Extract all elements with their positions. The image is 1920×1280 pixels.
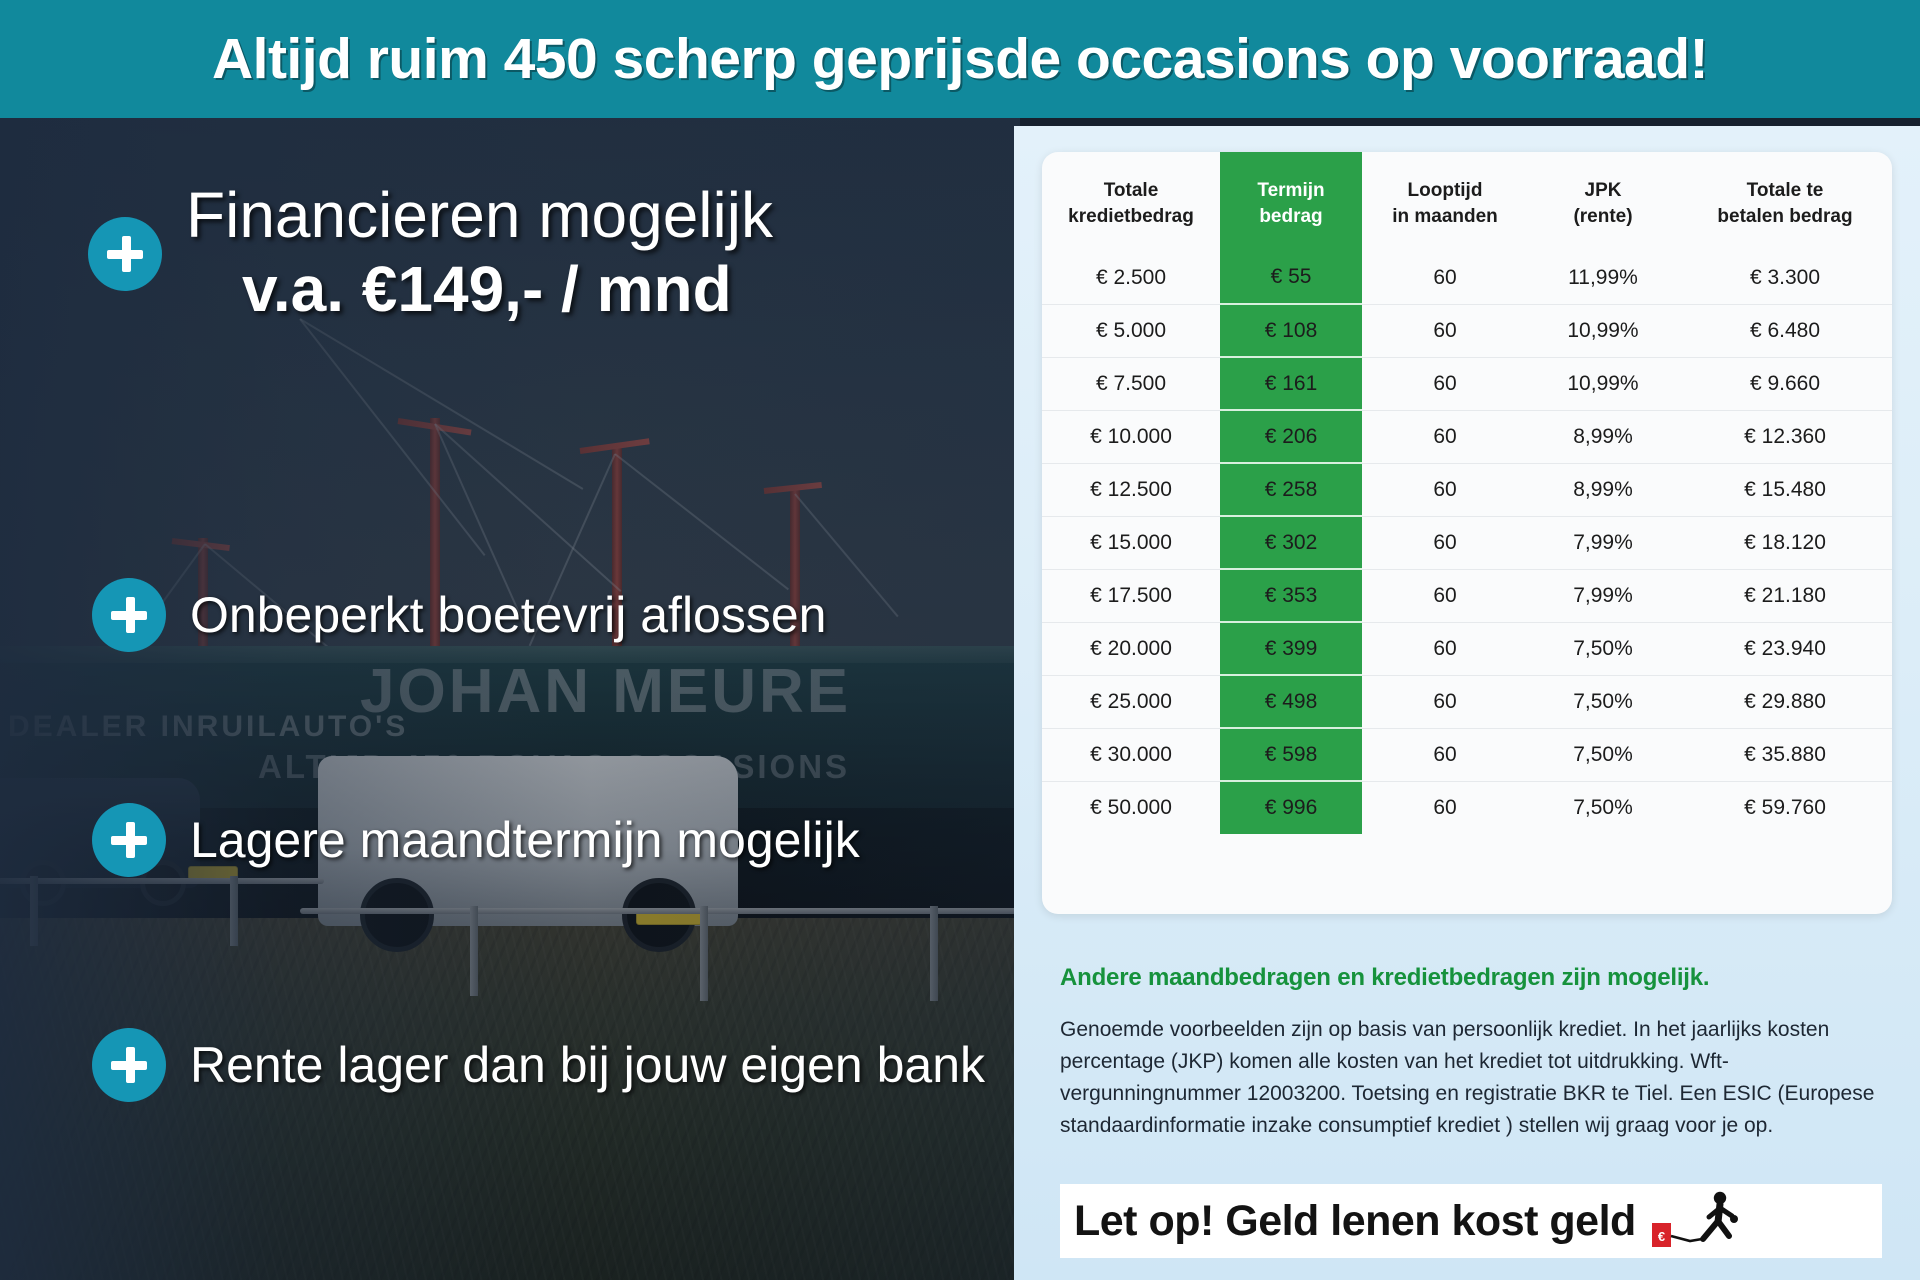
table-row: € 30.000 € 598 60 7,50% € 35.880 [1042,728,1892,781]
rate-table: Totale kredietbedrag Termijn bedrag Loop… [1042,152,1892,834]
headline-block: Financieren mogelijk v.a. €149,- / mnd [186,180,773,328]
th-line-1: Totale te [1747,180,1824,201]
table-row: € 20.000 € 399 60 7,50% € 23.940 [1042,622,1892,675]
cell-termijn: € 55 [1220,251,1362,304]
cell-totaal: € 59.760 [1678,781,1892,834]
cell-krediet: € 5.000 [1042,304,1220,357]
cell-jpk: 7,99% [1528,516,1678,569]
cell-termijn: € 108 [1220,304,1362,357]
cell-termijn: € 996 [1220,781,1362,834]
th-line-2: bedrag [1259,206,1322,227]
disclaimer-body: Genoemde voorbeelden zijn op basis van p… [1060,1014,1880,1142]
th-totale-kredietbedrag: Totale kredietbedrag [1042,152,1220,251]
th-line-2: betalen bedrag [1717,206,1852,227]
cell-krediet: € 15.000 [1042,516,1220,569]
credit-warning-strip: Let op! Geld lenen kost geld € [1060,1184,1882,1258]
cell-jpk: 7,50% [1528,622,1678,675]
credit-warning-text: Let op! Geld lenen kost geld [1074,1197,1636,1246]
th-line-1: Looptijd [1408,180,1483,201]
cell-jpk: 7,50% [1528,675,1678,728]
th-looptijd: Looptijd in maanden [1362,152,1528,251]
feature-list: Financieren mogelijk v.a. €149,- / mnd O… [0,118,1030,1280]
cell-jpk: 7,50% [1528,728,1678,781]
th-line-2: kredietbedrag [1068,206,1194,227]
cell-totaal: € 21.180 [1678,569,1892,622]
cell-krediet: € 20.000 [1042,622,1220,675]
rate-table-header-row: Totale kredietbedrag Termijn bedrag Loop… [1042,152,1892,251]
cell-termijn: € 353 [1220,569,1362,622]
financing-panel: Totale kredietbedrag Termijn bedrag Loop… [1014,126,1920,1280]
th-line-1: Termijn [1257,180,1324,201]
cell-krediet: € 17.500 [1042,569,1220,622]
feature-item-aflossen: Onbeperkt boetevrij aflossen [92,578,826,652]
cell-totaal: € 35.880 [1678,728,1892,781]
cell-termijn: € 161 [1220,357,1362,410]
table-row: € 17.500 € 353 60 7,99% € 21.180 [1042,569,1892,622]
cell-looptijd: 60 [1362,251,1528,304]
disclaimer-heading: Andere maandbedragen en kredietbedragen … [1060,964,1880,992]
cell-looptijd: 60 [1362,304,1528,357]
cell-totaal: € 9.660 [1678,357,1892,410]
cell-krediet: € 50.000 [1042,781,1220,834]
th-line-2: (rente) [1573,206,1632,227]
banner-headline: Altijd ruim 450 scherp geprijsde occasio… [212,26,1708,92]
plus-icon [92,1028,166,1102]
cell-termijn: € 258 [1220,463,1362,516]
cell-looptijd: 60 [1362,675,1528,728]
cell-totaal: € 12.360 [1678,410,1892,463]
th-totale-te-betalen: Totale te betalen bedrag [1678,152,1892,251]
feature-headline-row: Financieren mogelijk v.a. €149,- / mnd [88,180,773,328]
cell-totaal: € 3.300 [1678,251,1892,304]
plus-icon [92,578,166,652]
financing-promo-poster: Altijd ruim 450 scherp geprijsde occasio… [0,0,1920,1280]
cell-looptijd: 60 [1362,569,1528,622]
cell-jpk: 10,99% [1528,357,1678,410]
feature-item-maandtermijn: Lagere maandtermijn mogelijk [92,803,860,877]
th-jpk: JPK (rente) [1528,152,1678,251]
th-line-1: Totale [1104,180,1159,201]
table-row: € 50.000 € 996 60 7,50% € 59.760 [1042,781,1892,834]
cell-jpk: 7,50% [1528,781,1678,834]
feature-label: Onbeperkt boetevrij aflossen [190,587,826,643]
cell-looptijd: 60 [1362,357,1528,410]
cell-looptijd: 60 [1362,410,1528,463]
table-row: € 7.500 € 161 60 10,99% € 9.660 [1042,357,1892,410]
cell-termijn: € 302 [1220,516,1362,569]
cell-looptijd: 60 [1362,622,1528,675]
plus-icon [88,217,162,291]
cell-termijn: € 399 [1220,622,1362,675]
top-banner: Altijd ruim 450 scherp geprijsde occasio… [0,0,1920,118]
rate-table-body: € 2.500 € 55 60 11,99% € 3.300 € 5.000 €… [1042,251,1892,834]
disclaimer-block: Andere maandbedragen en kredietbedragen … [1060,964,1880,1142]
rate-table-card: Totale kredietbedrag Termijn bedrag Loop… [1042,152,1892,914]
cell-termijn: € 498 [1220,675,1362,728]
cell-jpk: 8,99% [1528,410,1678,463]
cell-jpk: 7,99% [1528,569,1678,622]
table-row: € 15.000 € 302 60 7,99% € 18.120 [1042,516,1892,569]
cell-looptijd: 60 [1362,781,1528,834]
th-termijn-bedrag: Termijn bedrag [1220,152,1362,251]
cell-termijn: € 206 [1220,410,1362,463]
cell-totaal: € 29.880 [1678,675,1892,728]
feature-label: Rente lager dan bij jouw eigen bank [190,1037,985,1093]
feature-item-rente: Rente lager dan bij jouw eigen bank [92,1028,985,1102]
headline-line-2: v.a. €149,- / mnd [242,250,773,328]
feature-label: Lagere maandtermijn mogelijk [190,812,860,868]
th-line-1: JPK [1585,180,1622,201]
cell-krediet: € 10.000 [1042,410,1220,463]
table-row: € 25.000 € 498 60 7,50% € 29.880 [1042,675,1892,728]
cell-looptijd: 60 [1362,728,1528,781]
svg-text:€: € [1658,1229,1665,1244]
table-row: € 10.000 € 206 60 8,99% € 12.360 [1042,410,1892,463]
headline-line-1: Financieren mogelijk [186,180,773,250]
cell-jpk: 8,99% [1528,463,1678,516]
plus-icon [92,803,166,877]
cell-looptijd: 60 [1362,516,1528,569]
cell-totaal: € 6.480 [1678,304,1892,357]
table-row: € 12.500 € 258 60 8,99% € 15.480 [1042,463,1892,516]
cell-krediet: € 2.500 [1042,251,1220,304]
cell-totaal: € 15.480 [1678,463,1892,516]
cell-looptijd: 60 [1362,463,1528,516]
cell-krediet: € 25.000 [1042,675,1220,728]
cell-totaal: € 18.120 [1678,516,1892,569]
cell-krediet: € 30.000 [1042,728,1220,781]
cell-krediet: € 7.500 [1042,357,1220,410]
table-row: € 5.000 € 108 60 10,99% € 6.480 [1042,304,1892,357]
cell-krediet: € 12.500 [1042,463,1220,516]
ball-and-chain-walker-icon: € [1650,1191,1742,1251]
th-line-2: in maanden [1392,206,1498,227]
cell-jpk: 10,99% [1528,304,1678,357]
cell-termijn: € 598 [1220,728,1362,781]
table-row: € 2.500 € 55 60 11,99% € 3.300 [1042,251,1892,304]
cell-jpk: 11,99% [1528,251,1678,304]
cell-totaal: € 23.940 [1678,622,1892,675]
